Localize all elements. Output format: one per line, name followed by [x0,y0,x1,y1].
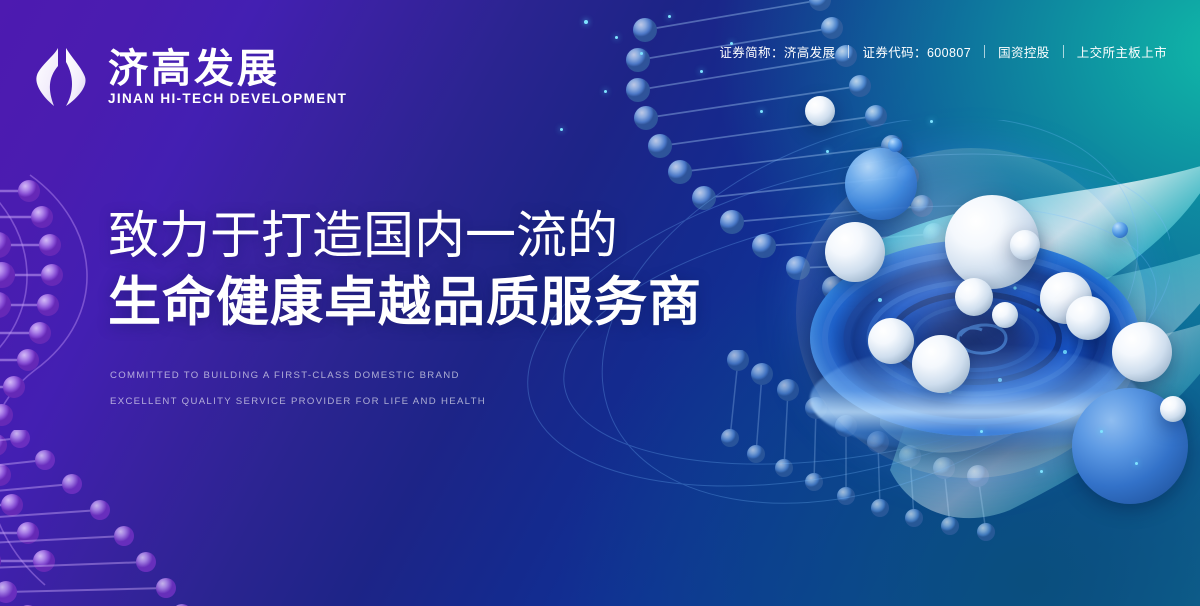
sphere-blue-bottom-right [1072,388,1188,504]
hero-headline: 致力于打造国内一流的 生命健康卓越品质服务商 [108,208,702,334]
sphere-blue-upper [845,148,917,220]
dna-helix-blue-lower-icon [700,350,1120,606]
subtitle-line-2: EXCELLENT QUALITY SERVICE PROVIDER FOR L… [110,397,486,407]
sphere-blue-tiny-link [888,138,902,152]
brand-logo-text: 济高发展 JINAN HI-TECH DEVELOPMENT [108,49,347,106]
sphere-white-on-blue [1160,396,1186,422]
stock-info-listing: 上交所主板上市 [1064,42,1180,61]
jinan-hitech-leaf-mark-icon [28,44,94,110]
sphere-white-big-center [945,195,1039,289]
stock-info-abbreviation: 证券简称：济高发展 [706,42,848,61]
disc-body [810,240,1140,436]
sphere-white-top-small [805,96,835,126]
stock-info-bar: 证券简称：济高发展 证券代码：600807 国资控股 上交所主板上市 [706,42,1180,61]
subtitle-line-1: COMMITTED TO BUILDING A FIRST-CLASS DOME… [110,371,486,381]
sphere-white-lower-left [868,318,914,364]
sphere-blue-tiny-right [1112,222,1128,238]
sphere-white-mid-a [955,278,993,316]
headline-line-1: 致力于打造国内一流的 [108,208,702,265]
brand-name-cn: 济高发展 [108,49,347,89]
disc-swirl-rings-icon [810,240,1140,436]
sphere-white-mid-b [992,302,1018,328]
sphere-white-right-b [1066,296,1110,340]
sphere-white-center-small [1010,230,1040,260]
sphere-white-far-right [1112,322,1172,382]
headline-line-2: 生命健康卓越品质服务商 [108,273,702,333]
stock-info-ownership: 国资控股 [985,42,1063,61]
dna-helix-purple-lower-icon [0,430,240,606]
disc-rim [810,344,1140,454]
disc-glass-dome [796,148,1146,478]
brand-logo[interactable]: 济高发展 JINAN HI-TECH DEVELOPMENT [28,44,347,110]
stock-info-code: 证券代码：600807 [849,42,984,61]
hero-banner: 济高发展 JINAN HI-TECH DEVELOPMENT 证券简称：济高发展… [0,0,1200,606]
glossy-blue-disc [786,148,1178,478]
orbit-lines-icon [470,120,1170,560]
sphere-white-left [825,222,885,282]
sphere-white-lower-mid [912,335,970,393]
brand-name-en: JINAN HI-TECH DEVELOPMENT [108,92,347,106]
hero-subtitle: COMMITTED TO BUILDING A FIRST-CLASS DOME… [110,371,486,422]
sphere-white-right-a [1040,272,1092,324]
teal-ribbons-icon [880,130,1200,530]
